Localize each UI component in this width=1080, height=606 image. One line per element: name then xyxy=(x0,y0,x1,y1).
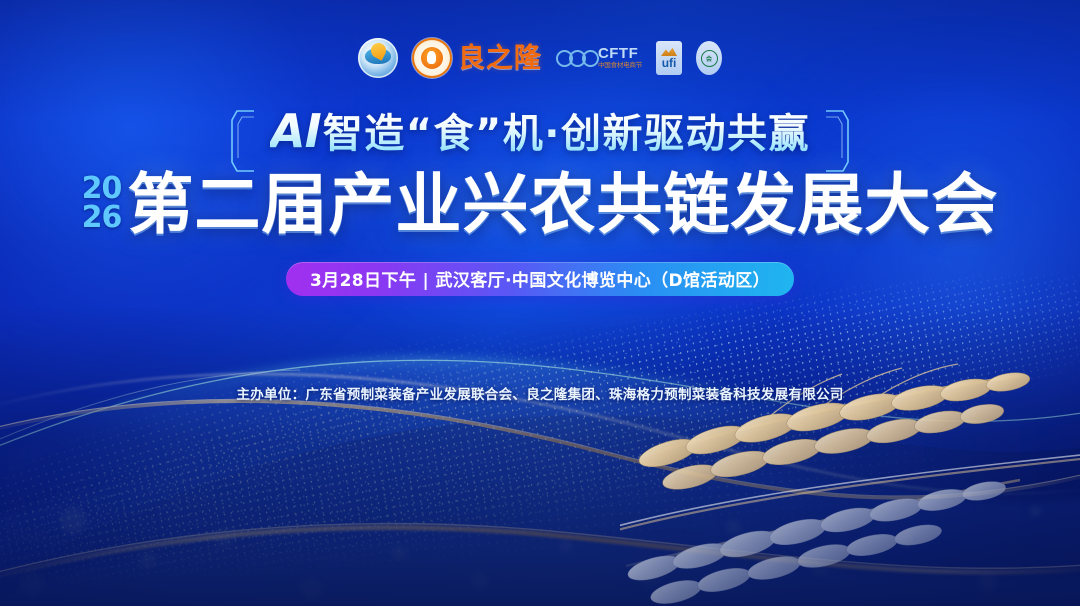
main-title-row: 20 26 第二届产业兴农共链发展大会 xyxy=(0,172,1080,238)
headline-block: AI智造“食”机·创新驱动共赢 20 26 第二届产业兴农共链发展大会 3月28… xyxy=(0,106,1080,296)
cftf-text-block: CFTF 中国食材电商节 xyxy=(598,46,642,70)
logo-ufi[interactable]: ufi xyxy=(656,41,682,75)
subtitle-rest: 智造“食”机·创新驱动共赢 xyxy=(323,111,810,157)
bottom-vignette xyxy=(0,306,1080,606)
date-venue-badge: 3月28日下午 | 武汉客厅·中国文化博览中心（D馆活动区） xyxy=(286,262,794,296)
cftf-caption: 中国食材电商节 xyxy=(598,63,642,70)
bracket-left-decoration xyxy=(230,108,256,174)
logo-guangdong-prepared-food-association[interactable] xyxy=(358,38,398,78)
conference-banner: 良之隆 CFTF 中国食材电商节 ufi 会 xyxy=(0,0,1080,606)
association-emblem-icon xyxy=(358,38,398,78)
page-title: 第二届产业兴农共链发展大会 xyxy=(127,172,998,238)
subtitle-wrap: AI智造“食”机·创新驱动共赢 xyxy=(226,106,854,158)
cftf-wordmark: CFTF xyxy=(598,46,642,61)
logo-cces[interactable]: 会 xyxy=(696,41,722,75)
bracket-left-svg xyxy=(230,108,256,174)
logo-cftf[interactable]: CFTF 中国食材电商节 xyxy=(556,46,642,70)
organizer-row: 主办单位：广东省预制菜装备产业发展联合会、良之隆集团、珠海格力预制菜装备科技发展… xyxy=(0,383,1080,404)
liangzhilong-wordmark: 良之隆 xyxy=(458,45,542,72)
bracket-right-svg xyxy=(824,108,850,174)
ai-wordmark: AI xyxy=(270,104,323,158)
cces-seal-icon: 会 xyxy=(701,50,718,67)
liangzhilong-emblem-icon xyxy=(412,38,452,78)
bracket-right-decoration xyxy=(824,108,850,174)
ufi-mountain-icon xyxy=(661,47,677,56)
year-bottom: 26 xyxy=(82,203,122,232)
cftf-rings-icon xyxy=(556,50,595,67)
date-venue-row: 3月28日下午 | 武汉客厅·中国文化博览中心（D馆活动区） xyxy=(0,262,1080,296)
year-top: 20 xyxy=(82,174,122,203)
sponsor-logo-row: 良之隆 CFTF 中国食材电商节 ufi 会 xyxy=(0,38,1080,78)
year-badge: 20 26 xyxy=(82,174,122,233)
event-subtitle: AI智造“食”机·创新驱动共赢 xyxy=(270,106,810,158)
organizer-line: 主办单位：广东省预制菜装备产业发展联合会、良之隆集团、珠海格力预制菜装备科技发展… xyxy=(236,383,843,403)
logo-liangzhilong[interactable]: 良之隆 xyxy=(412,38,542,78)
ufi-wordmark: ufi xyxy=(662,57,677,69)
